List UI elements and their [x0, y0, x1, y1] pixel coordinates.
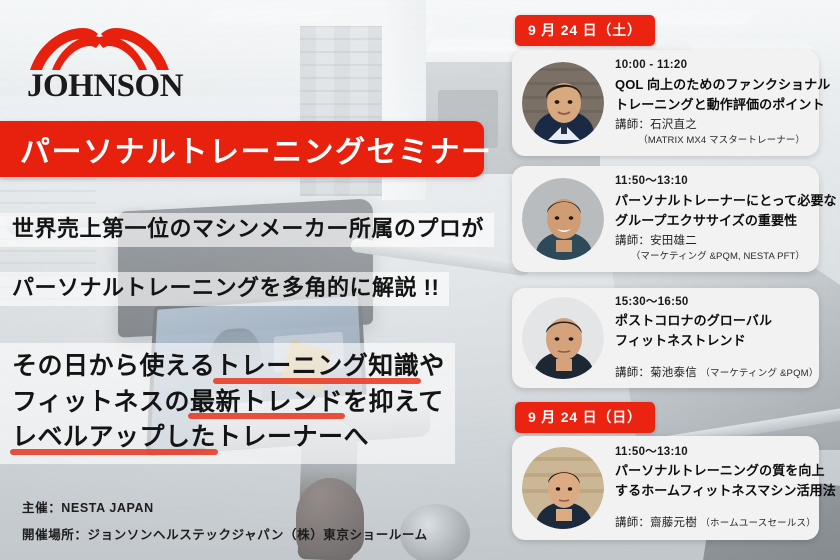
session-card[interactable]: 11:50〜13:10 パーソナルトレーニングの質を向上 するホームフィットネス… — [512, 436, 819, 540]
headline-block-line: フィットネスの最新トレンドを抑えて — [12, 385, 445, 421]
logo-wordmark: JOHNSON — [27, 70, 172, 103]
johnson-arch-logo-icon — [27, 23, 172, 73]
session-lecturer: 講師：菊池泰信 （マーケティング &PQM） — [615, 364, 807, 382]
session-info: 11:50〜13:10 パーソナルトレーナーにとって必要な グループエクササイズ… — [615, 173, 807, 264]
poster-title: パーソナルトレーニングセミナー — [0, 127, 493, 171]
session-title-line2: グループエクササイズの重要性 — [615, 211, 807, 231]
venue-text: 開催場所：ジョンソンヘルステックジャパン（株）東京ショールーム — [22, 524, 428, 543]
session-info: 11:50〜13:10 パーソナルトレーニングの質を向上 するホームフィットネス… — [615, 444, 807, 533]
spacer — [615, 501, 807, 513]
session-card[interactable]: 11:50〜13:10 パーソナルトレーナーにとって必要な グループエクササイズ… — [512, 166, 819, 272]
session-info: 15:30〜16:50 ポストコロナのグローバル フィットネストレンド 講師：菊… — [615, 294, 807, 383]
session-title-line1: パーソナルトレーニングの質を向上 — [615, 461, 807, 481]
speaker-avatar-yasuda — [522, 178, 604, 260]
schedule-column: 9 月 24 日（土） 9 月 24 日（日） — [505, 0, 840, 560]
speaker-avatar-ishizawa — [522, 62, 604, 144]
session-time: 11:50〜13:10 — [615, 173, 807, 190]
headline-text-marked: 最新トレンド — [190, 385, 343, 421]
headline-line-2: パーソナルトレーニングを多角的に解説 !! — [0, 272, 449, 306]
session-title-line1: パーソナルトレーナーにとって必要な — [615, 191, 807, 211]
session-affiliation: （MATRIX MX4 マスタートレーナー） — [615, 134, 807, 148]
session-title-line1: QOL 向上のためのファンクショナル — [615, 75, 807, 95]
session-card[interactable]: 10:00 - 11:20 QOL 向上のためのファンクショナル トレーニングと… — [512, 50, 819, 156]
speaker-avatar-kikuchi — [522, 297, 604, 379]
session-time: 15:30〜16:50 — [615, 294, 807, 311]
session-affiliation: （マーケティング &PQM, NESTA PFT） — [615, 250, 807, 264]
headline-block-line: その日から使えるトレーニング知識や — [12, 349, 445, 385]
headline-text-plain: や — [419, 352, 445, 380]
session-title-line2: トレーニングと動作評価のポイント — [615, 95, 807, 115]
seminar-poster: JOHNSON パーソナルトレーニングセミナー 世界売上第一位のマシンメーカー所… — [0, 0, 840, 560]
speaker-avatar-saito — [522, 447, 604, 529]
title-banner: パーソナルトレーニングセミナー — [0, 121, 484, 177]
headline-text-plain: その日から使える — [12, 352, 215, 380]
headline-text-marked: レベルアップした — [12, 420, 216, 456]
session-time: 10:00 - 11:20 — [615, 57, 807, 74]
session-affiliation: （ホームユースセールス） — [700, 518, 816, 529]
session-affiliation: （マーケティング &PQM） — [700, 368, 818, 379]
headline-line-1: 世界売上第一位のマシンメーカー所属のプロが — [0, 213, 494, 247]
date-badge-sunday: 9 月 24 日（日） — [515, 402, 655, 433]
session-title-line1: ポストコロナのグローバル — [615, 311, 807, 331]
headline-text-plain: フィットネスの — [12, 388, 190, 416]
session-lecturer: 講師：石沢直之 — [615, 116, 807, 134]
session-info: 10:00 - 11:20 QOL 向上のためのファンクショナル トレーニングと… — [615, 57, 807, 148]
lecturer-name: 講師：齋藤元樹 — [615, 517, 697, 529]
session-time: 11:50〜13:10 — [615, 444, 807, 461]
johnson-logo: JOHNSON — [27, 23, 172, 103]
date-badge-saturday: 9 月 24 日（土） — [515, 15, 655, 46]
session-lecturer: 講師：安田雄二 — [615, 232, 807, 250]
session-title-line2: フィットネストレンド — [615, 331, 807, 351]
session-title-line2: するホームフィットネスマシン活用法 — [615, 481, 807, 501]
session-lecturer: 講師：齋藤元樹 （ホームユースセールス） — [615, 514, 807, 532]
lecturer-name: 講師：菊池泰信 — [615, 367, 697, 379]
headline-text-marked: トレーニング知識 — [215, 349, 419, 385]
headline-text-plain: を抑えて — [343, 388, 444, 416]
session-card[interactable]: 15:30〜16:50 ポストコロナのグローバル フィットネストレンド 講師：菊… — [512, 288, 819, 388]
headline-block: その日から使えるトレーニング知識や フィットネスの最新トレンドを抑えて レベルア… — [0, 343, 455, 464]
spacer — [615, 351, 807, 363]
organizer-text: 主催：NESTA JAPAN — [22, 497, 154, 516]
headline-block-line: レベルアップしたトレーナーへ — [12, 420, 445, 456]
headline-text-plain: トレーナーへ — [216, 423, 369, 451]
